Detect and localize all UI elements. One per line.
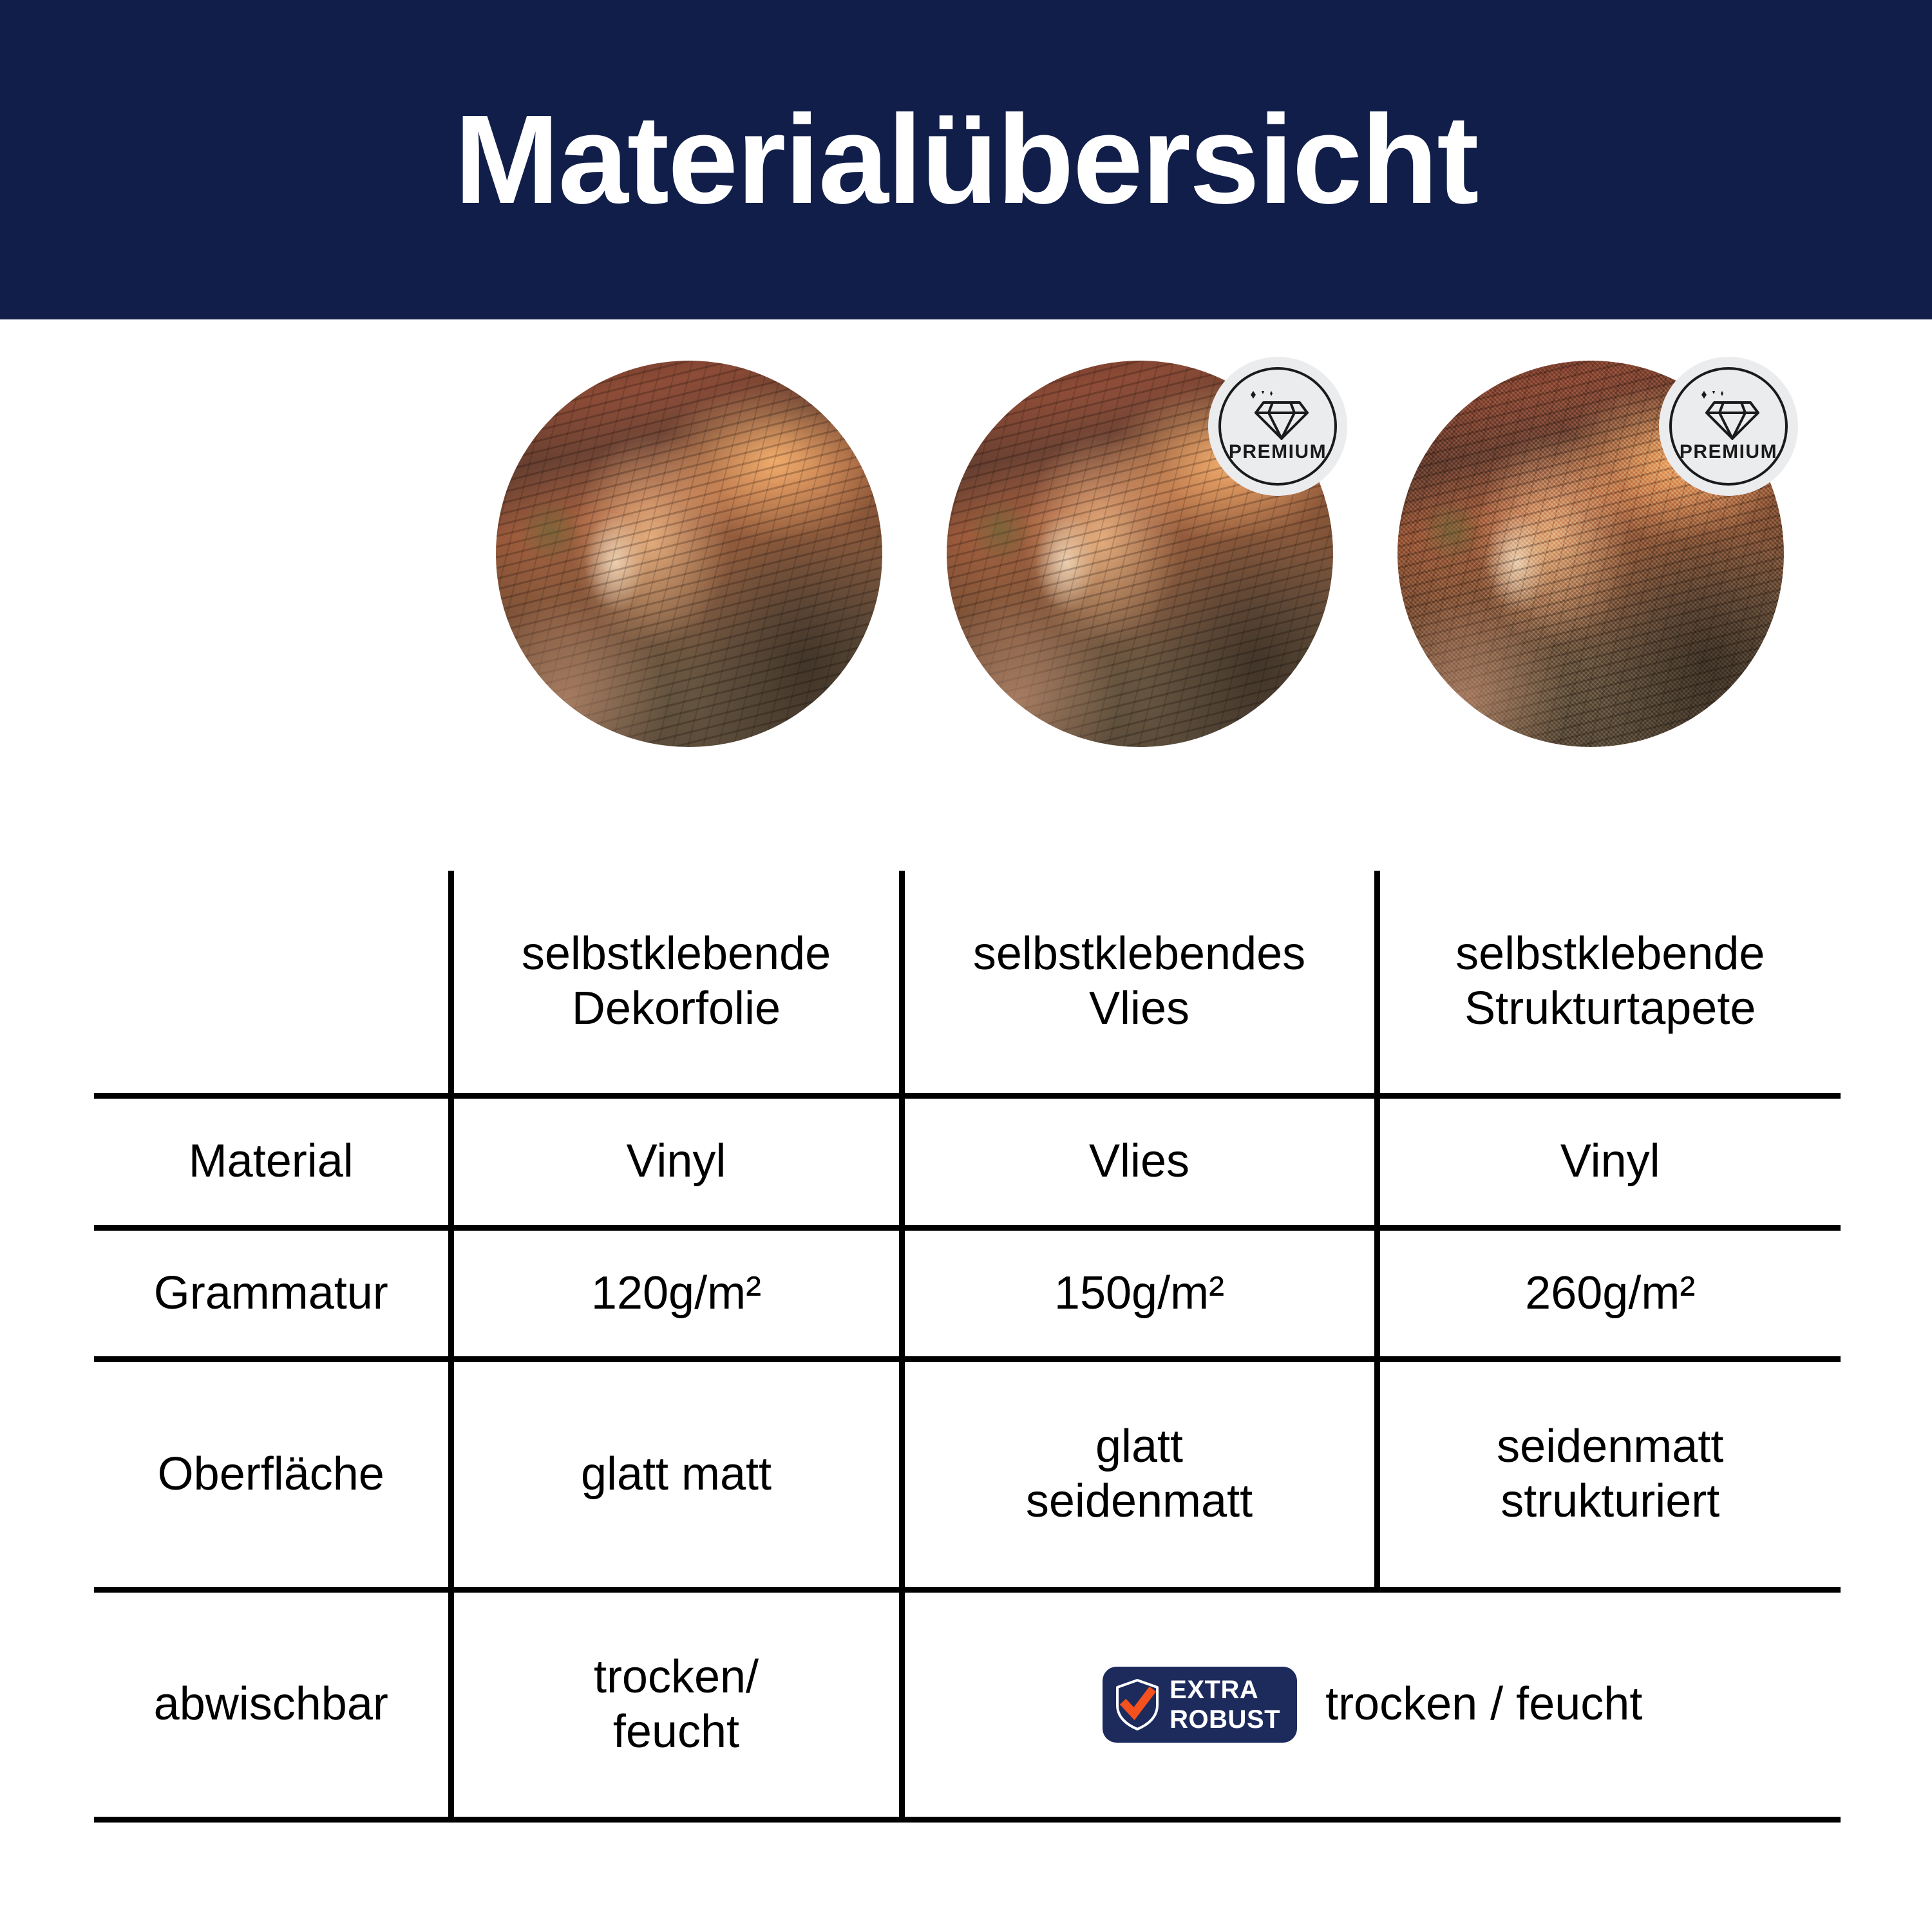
table-row-grammatur: Grammatur 120g/m² 150g/m² 260g/m² [94,1227,1841,1359]
cell-material-dekorfolie: Vinyl [451,1095,902,1227]
header-cell-vlies: selbstklebendes Vlies [902,871,1377,1095]
header-line2: Vlies [914,981,1365,1036]
material-swatch-row: PREMIUM PREMIUM [0,348,1932,773]
cell-abwischbar-value: trocken / feucht [1325,1677,1642,1732]
header-line2: Dekorfolie [463,981,890,1036]
row-label-oberflaeche: Oberfläche [94,1359,451,1589]
table-row-oberflaeche: Oberfläche glatt matt glatt seidenmatt s… [94,1359,1841,1589]
premium-badge-vlies: PREMIUM [1208,357,1347,496]
premium-badge-label: PREMIUM [1229,442,1327,462]
swatch-vlies[interactable]: PREMIUM [947,361,1333,747]
swatch-strukturtapete[interactable]: PREMIUM [1397,361,1784,747]
shield-check-icon [1114,1678,1160,1731]
header-cell-empty [94,871,451,1095]
diamond-icon [1695,391,1762,440]
robust-line2: ROBUST [1170,1707,1280,1732]
row-label-abwischbar: abwischbar [94,1589,451,1819]
row-label-material: Material [94,1095,451,1227]
cell-oberflaeche-dekorfolie: glatt matt [451,1359,902,1589]
robust-badge-and-value: EXTRA ROBUST trocken / feucht [914,1667,1832,1743]
cell-oberflaeche-vlies: glatt seidenmatt [902,1359,1377,1589]
cell-abwischbar-dekorfolie: trocken/ feucht [451,1589,902,1819]
header-cell-dekorfolie: selbstklebende Dekorfolie [451,871,902,1095]
premium-badge-strukturtapete: PREMIUM [1659,357,1798,496]
value-line2: strukturiert [1389,1474,1832,1529]
value-line1: glatt [914,1419,1365,1474]
cell-grammatur-strukturtapete: 260g/m² [1377,1227,1841,1359]
header-line2: Strukturtapete [1389,981,1832,1036]
cell-material-vlies: Vlies [902,1095,1377,1227]
row-label-grammatur: Grammatur [94,1227,451,1359]
value-line2: feucht [463,1705,890,1759]
value-line2: seidenmatt [914,1474,1365,1529]
extra-robust-badge: EXTRA ROBUST [1103,1667,1297,1743]
swatch-dekorfolie[interactable] [496,361,882,747]
table-header-row: selbstklebende Dekorfolie selbstklebende… [94,871,1841,1095]
material-comparison-table: selbstklebende Dekorfolie selbstklebende… [94,871,1841,1823]
value-line1: trocken/ [463,1650,890,1705]
cell-oberflaeche-strukturtapete: seidenmatt strukturiert [1377,1359,1841,1589]
cell-material-strukturtapete: Vinyl [1377,1095,1841,1227]
cell-abwischbar-merged: EXTRA ROBUST trocken / feucht [902,1589,1841,1819]
value-line1: seidenmatt [1389,1419,1832,1474]
page-title: Materialübersicht [455,97,1478,223]
cell-grammatur-dekorfolie: 120g/m² [451,1227,902,1359]
premium-badge-inner: PREMIUM [1669,367,1788,486]
header-cell-strukturtapete: selbstklebende Strukturtapete [1377,871,1841,1095]
swatch-image-dekorfolie [496,361,882,747]
premium-badge-inner: PREMIUM [1218,367,1337,486]
header-line1: selbstklebende [1389,927,1832,981]
header-line1: selbstklebendes [914,927,1365,981]
table-row-material: Material Vinyl Vlies Vinyl [94,1095,1841,1227]
header-band: Materialübersicht [0,0,1932,319]
extra-robust-labels: EXTRA ROBUST [1170,1677,1280,1732]
robust-line1: EXTRA [1170,1677,1258,1703]
header-line1: selbstklebende [463,927,890,981]
diamond-icon [1244,391,1311,440]
premium-badge-label: PREMIUM [1680,442,1777,462]
cell-grammatur-vlies: 150g/m² [902,1227,1377,1359]
table-row-abwischbar: abwischbar trocken/ feucht EXTRA [94,1589,1841,1819]
